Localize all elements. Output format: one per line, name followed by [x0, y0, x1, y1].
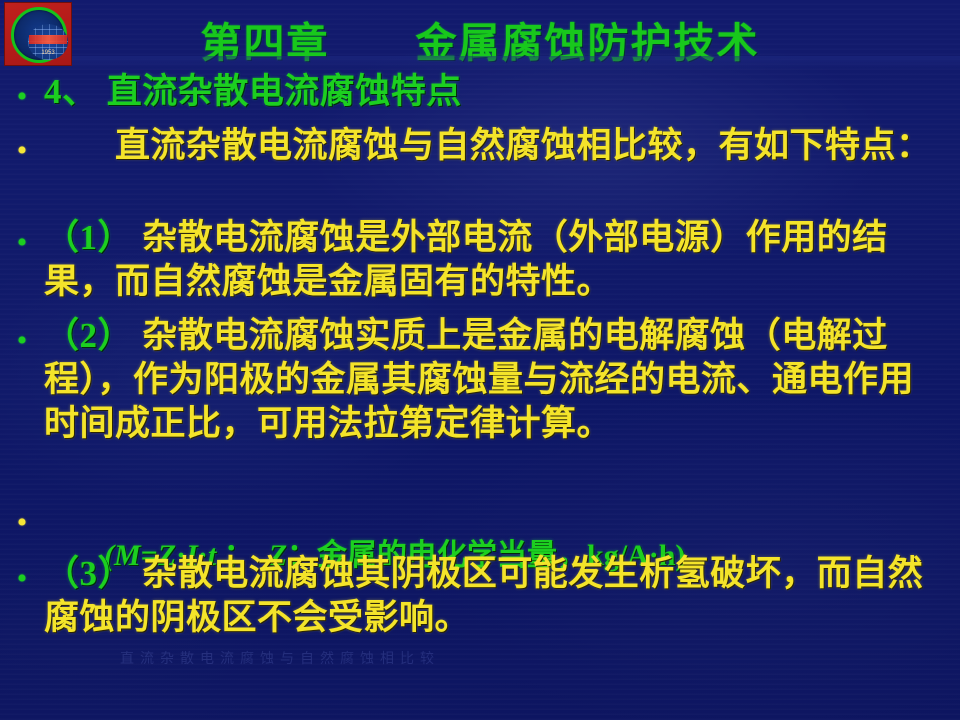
- list-item: • （1） 杂散电流腐蚀是外部电流（外部电源）作用的结果，而自然腐蚀是金属固有的…: [0, 216, 960, 304]
- bullet-text: （1） 杂散电流腐蚀是外部电流（外部电源）作用的结果，而自然腐蚀是金属固有的特性…: [44, 216, 960, 304]
- bullet-number: （1）: [44, 218, 133, 257]
- logo-ring: 1953: [11, 7, 67, 63]
- bullet-marker: •: [0, 314, 44, 356]
- list-item: • 直流杂散电流腐蚀与自然腐蚀相比较，有如下特点：: [0, 124, 960, 168]
- logo-chinese-name: [29, 35, 67, 44]
- list-item: • 4、 直流杂散电流腐蚀特点: [0, 70, 960, 114]
- bullet-marker: •: [0, 496, 44, 538]
- bullet-body: 杂散电流腐蚀实质上是金属的电解腐蚀（电解过程），作为阳极的金属其腐蚀量与流经的电…: [44, 316, 914, 443]
- logo-year: 1953: [36, 50, 60, 57]
- list-item: • （2） 杂散电流腐蚀实质上是金属的电解腐蚀（电解过程），作为阳极的金属其腐蚀…: [0, 314, 960, 446]
- slide-body: • 4、 直流杂散电流腐蚀特点 • 直流杂散电流腐蚀与自然腐蚀相比较，有如下特点…: [0, 66, 960, 634]
- bullet-text: （2） 杂散电流腐蚀实质上是金属的电解腐蚀（电解过程），作为阳极的金属其腐蚀量与…: [44, 314, 960, 446]
- bullet-marker: •: [0, 552, 44, 594]
- bullet-number: （3）: [44, 554, 133, 593]
- bullet-text: （3） 杂散电流腐蚀其阴极区可能发生析氢破坏，而自然腐蚀的阴极区不会受影响。: [44, 552, 960, 640]
- slide-canvas: 1953 第四章 金属腐蚀防护技术 • 4、 直流杂散电流腐蚀特点 • 直流杂散…: [0, 0, 960, 720]
- university-logo: 1953: [4, 2, 72, 66]
- list-item: • （3） 杂散电流腐蚀其阴极区可能发生析氢破坏，而自然腐蚀的阴极区不会受影响。: [0, 552, 960, 640]
- slide-footer: 上页 下页 返回 回主目录 2020/6/30 297: [0, 664, 960, 720]
- header-divider: [0, 56, 960, 70]
- bullet-marker: •: [0, 216, 44, 258]
- bullet-text: 直流杂散电流腐蚀与自然腐蚀相比较，有如下特点：: [44, 124, 960, 168]
- bullet-body: 杂散电流腐蚀其阴极区可能发生析氢破坏，而自然腐蚀的阴极区不会受影响。: [44, 554, 923, 637]
- slide-header: 第四章 金属腐蚀防护技术: [0, 0, 960, 66]
- bullet-marker: •: [0, 70, 44, 112]
- bullet-text: 4、 直流杂散电流腐蚀特点: [44, 70, 960, 114]
- bullet-number: （2）: [44, 316, 133, 355]
- bullet-body: 杂散电流腐蚀是外部电流（外部电源）作用的结果，而自然腐蚀是金属固有的特性。: [44, 218, 888, 301]
- bullet-marker: •: [0, 124, 44, 166]
